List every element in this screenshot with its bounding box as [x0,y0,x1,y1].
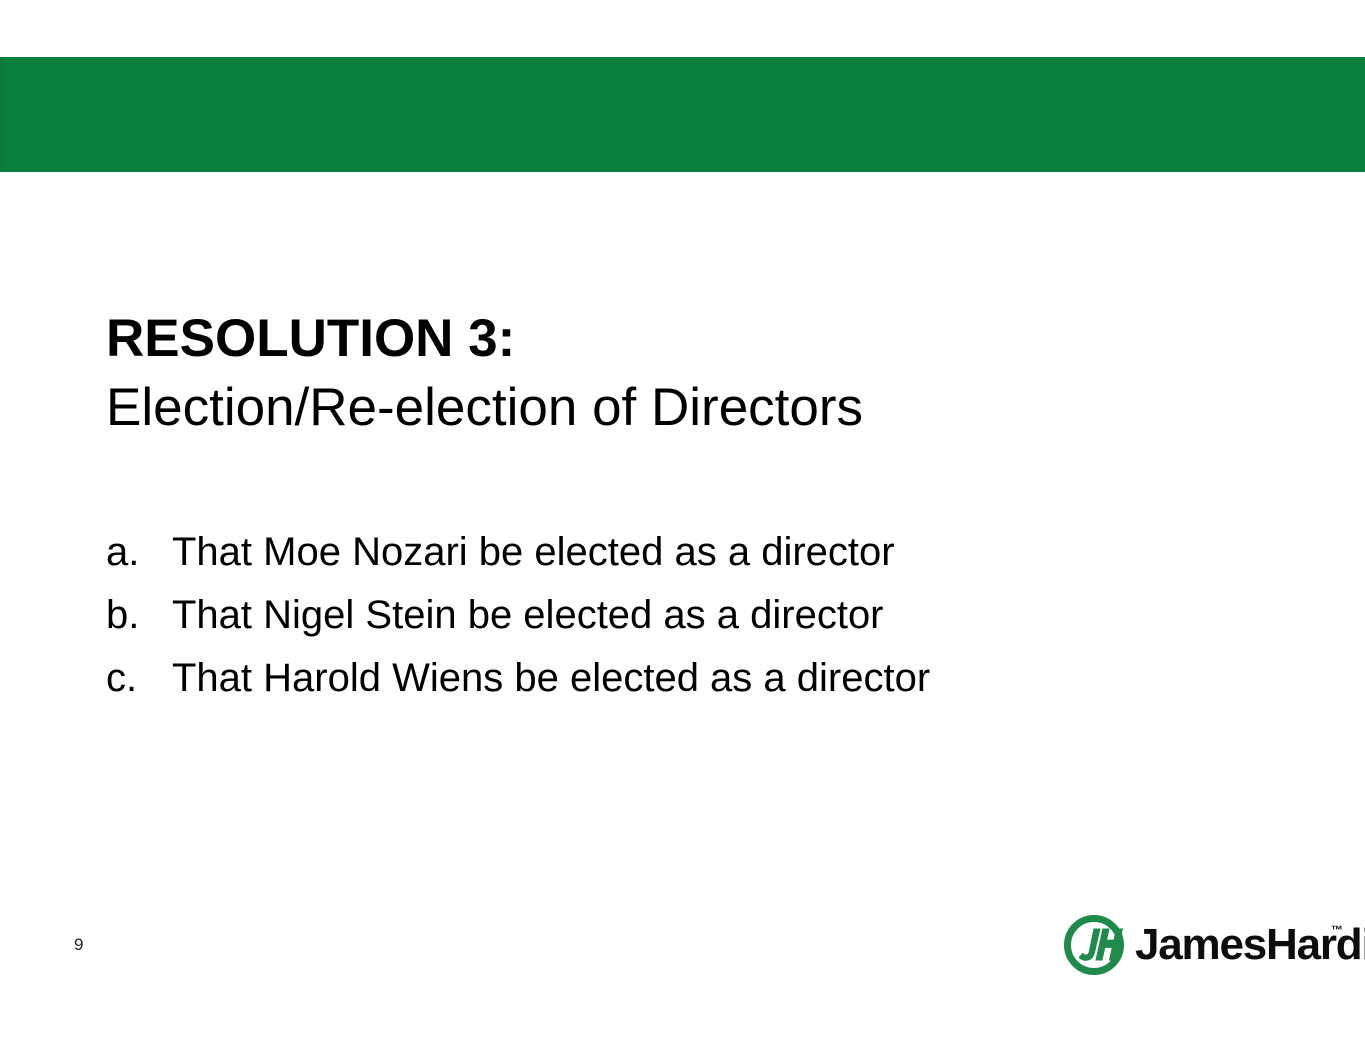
resolution-list: a. That Moe Nozari be elected as a direc… [106,521,1256,710]
list-item-marker: c. [106,647,172,710]
list-item: a. That Moe Nozari be elected as a direc… [106,521,1256,584]
trademark-symbol: ™ [1331,924,1343,936]
company-logo: JamesHardie ™ [1063,914,1348,976]
banner-left-edge [0,57,3,172]
page-number: 9 [74,935,83,955]
list-item: b. That Nigel Stein be elected as a dire… [106,584,1256,647]
banner-bottom-edge [0,169,1365,172]
list-item-marker: a. [106,521,172,584]
list-item-marker: b. [106,584,172,647]
list-item-label: That Nigel Stein be elected as a directo… [172,584,884,647]
header-banner [0,57,1365,172]
list-item-label: That Harold Wiens be elected as a direct… [172,647,930,710]
list-item-label: That Moe Nozari be elected as a director [172,521,895,584]
title-line-primary: RESOLUTION 3: [106,305,1206,373]
slide-canvas: RESOLUTION 3: Election/Re-election of Di… [0,0,1365,1055]
list-item: c. That Harold Wiens be elected as a dir… [106,647,1256,710]
page-title: RESOLUTION 3: Election/Re-election of Di… [106,305,1206,443]
jameshardie-monogram-icon [1063,914,1125,976]
title-line-secondary: Election/Re-election of Directors [106,373,1206,443]
slide-top-hairline [0,0,1365,1]
slide-bottom-hairline [0,994,1365,995]
